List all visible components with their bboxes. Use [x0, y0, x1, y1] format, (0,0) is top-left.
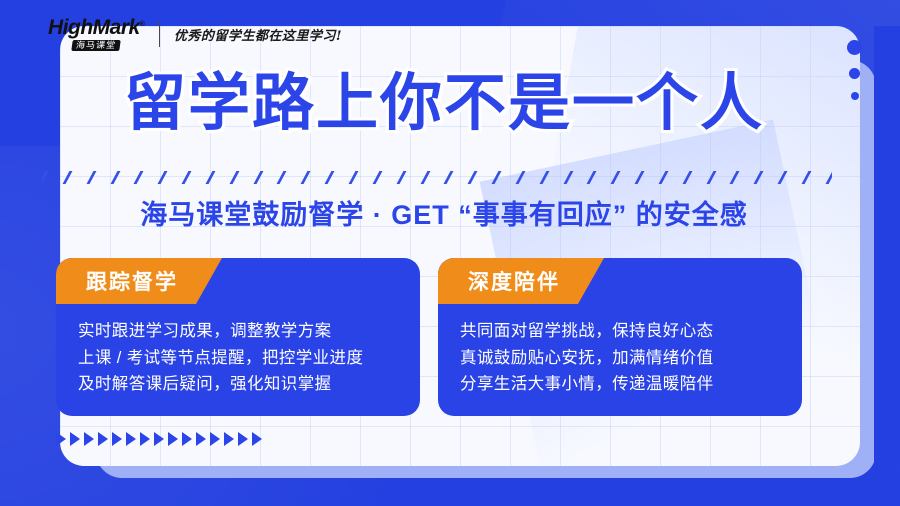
- tick-mark-icon: [229, 171, 239, 184]
- tick-mark-icon: [444, 171, 454, 184]
- tick-mark-icon: [778, 171, 788, 184]
- feature-body: 共同面对留学挑战，保持良好心态 真诚鼓励贴心安抚，加满情绪价值 分享生活大事小情…: [438, 304, 802, 400]
- arrow-right-icon: [70, 432, 80, 446]
- tick-mark-icon: [277, 171, 287, 184]
- tick-mark-icon: [539, 171, 549, 184]
- tick-mark-icon: [62, 171, 72, 184]
- poster-canvas: HighMark® 海马课堂 优秀的留学生都在这里学习! 留学路上你不是一个人 …: [0, 0, 900, 506]
- tick-mark-icon: [86, 171, 96, 184]
- feature-card-group: 跟踪督学 实时跟进学习成果，调整教学方案 上课 / 考试等节点提醒，把控学业进度…: [56, 258, 846, 416]
- tick-mark-icon: [372, 171, 382, 184]
- tick-mark-icon: [134, 171, 144, 184]
- tick-mark-icon: [825, 171, 832, 184]
- feature-line: 及时解答课后疑问，强化知识掌握: [78, 371, 398, 398]
- arrow-right-icon: [168, 432, 178, 446]
- tick-mark-icon: [420, 171, 430, 184]
- feature-tab-label: 跟踪督学: [56, 258, 222, 304]
- feature-body: 实时跟进学习成果，调整教学方案 上课 / 考试等节点提醒，把控学业进度 及时解答…: [56, 304, 420, 400]
- tick-mark-icon: [515, 171, 525, 184]
- tick-mark-icon: [396, 171, 406, 184]
- tick-mark-icon: [182, 171, 192, 184]
- header-divider: [159, 21, 160, 47]
- tick-mark-icon: [730, 171, 740, 184]
- decor-dot-icon: [851, 92, 859, 100]
- arrow-right-icon: [196, 432, 206, 446]
- tick-mark-icon: [349, 171, 359, 184]
- tick-mark-icon: [754, 171, 764, 184]
- arrow-right-icon: [154, 432, 164, 446]
- logo-trademark-icon: ®: [140, 21, 145, 28]
- decor-dot-icon: [847, 40, 862, 55]
- tick-mark-icon: [658, 171, 668, 184]
- arrow-right-icon: [98, 432, 108, 446]
- brand-header: HighMark® 海马课堂 优秀的留学生都在这里学习!: [48, 14, 342, 54]
- tick-mark-icon: [42, 171, 48, 184]
- brand-tagline: 优秀的留学生都在这里学习!: [174, 25, 342, 44]
- tick-mark-icon: [587, 171, 597, 184]
- tick-mark-icon: [682, 171, 692, 184]
- arrow-right-icon: [210, 432, 220, 446]
- logo-wordmark-text: HighMark: [48, 16, 140, 39]
- arrow-right-icon: [182, 432, 192, 446]
- tick-mark-icon: [253, 171, 263, 184]
- tick-mark-icon: [110, 171, 120, 184]
- logo-subbrand: 海马课堂: [72, 40, 122, 51]
- feature-line: 实时跟进学习成果，调整教学方案: [78, 318, 398, 345]
- arrow-right-icon: [56, 432, 66, 446]
- arrow-right-icon: [252, 432, 262, 446]
- feature-line: 真诚鼓励贴心安抚，加满情绪价值: [460, 345, 780, 372]
- tick-divider: [42, 170, 832, 184]
- feature-card: 跟踪督学 实时跟进学习成果，调整教学方案 上课 / 考试等节点提醒，把控学业进度…: [56, 258, 420, 416]
- tick-mark-icon: [706, 171, 716, 184]
- arrow-right-icon: [224, 432, 234, 446]
- logo-wordmark: HighMark®: [48, 17, 145, 38]
- arrow-right-icon: [140, 432, 150, 446]
- feature-tab-label: 深度陪伴: [438, 258, 604, 304]
- feature-line: 分享生活大事小情，传递温暖陪伴: [460, 371, 780, 398]
- tick-mark-icon: [563, 171, 573, 184]
- main-headline: 留学路上你不是一个人: [34, 72, 854, 134]
- arrow-decoration-row: [56, 432, 262, 446]
- subtitle: 海马课堂鼓励督学 · GET “事事有回应” 的安全感: [34, 198, 854, 233]
- tick-mark-icon: [301, 171, 311, 184]
- tick-mark-icon: [325, 171, 335, 184]
- feature-line: 共同面对留学挑战，保持良好心态: [460, 318, 780, 345]
- arrow-right-icon: [238, 432, 248, 446]
- dot-decoration-column: [847, 40, 862, 100]
- tick-mark-icon: [635, 171, 645, 184]
- arrow-right-icon: [84, 432, 94, 446]
- right-edge-bar: [874, 26, 900, 466]
- tick-mark-icon: [611, 171, 621, 184]
- feature-card: 深度陪伴 共同面对留学挑战，保持良好心态 真诚鼓励贴心安抚，加满情绪价值 分享生…: [438, 258, 802, 416]
- feature-line: 上课 / 考试等节点提醒，把控学业进度: [78, 345, 398, 372]
- decor-dot-icon: [849, 68, 860, 79]
- tick-mark-icon: [802, 171, 812, 184]
- arrow-right-icon: [112, 432, 122, 446]
- arrow-right-icon: [126, 432, 136, 446]
- highmark-logo: HighMark® 海马课堂: [48, 17, 145, 51]
- tick-mark-icon: [468, 171, 478, 184]
- tick-mark-icon: [492, 171, 502, 184]
- tick-mark-icon: [205, 171, 215, 184]
- tick-mark-icon: [158, 171, 168, 184]
